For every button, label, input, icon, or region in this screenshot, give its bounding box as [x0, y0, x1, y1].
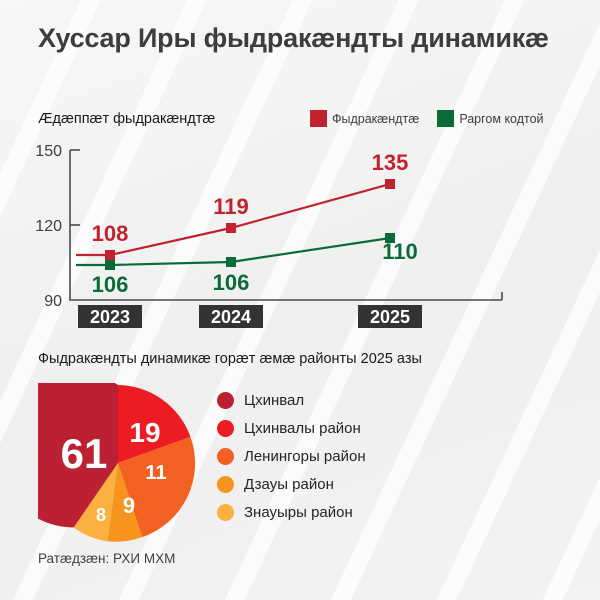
year-label-2023: 2023 [90, 307, 130, 327]
pie-legend-item-cxinvaly-rayon: Цхинвалы район [217, 418, 366, 439]
line-chart: 150 120 90 [0, 140, 600, 330]
pie-legend-label-znauyry-rayon: Знауыры район [244, 504, 353, 521]
year-label-2024: 2024 [211, 307, 251, 327]
pie-value-dzauy-rayon: 9 [123, 493, 135, 518]
pie-legend-item-znauyry-rayon: Знауыры район [217, 502, 366, 523]
value-solved-2025: 110 [382, 239, 418, 264]
value-crimes-2023: 108 [92, 221, 129, 246]
legend-label-crimes: Фыдракæндтæ [332, 112, 419, 126]
datapoint-crimes-2024 [226, 223, 236, 233]
datapoint-crimes-2023 [105, 250, 115, 260]
value-crimes-2024: 119 [213, 194, 249, 219]
pie-legend-dot-cxinvaly-rayon [217, 420, 234, 437]
pie-legend-item-cxinval: Цхинвал [217, 390, 366, 411]
pie-legend-dot-znauyry-rayon [217, 504, 234, 521]
pie-legend-dot-dzauy-rayon [217, 476, 234, 493]
legend-item-solved: Раргом кодтой [437, 110, 543, 127]
series-crimes [76, 179, 395, 260]
linechart-legend: Фыдракæндтæ Раргом кодтой [310, 110, 544, 127]
crimes-value-labels: 108 119 135 [92, 150, 409, 246]
pie-value-leningory-rayon: 11 [145, 462, 166, 484]
year-label-2025: 2025 [370, 307, 410, 327]
pie-legend-label-cxinval: Цхинвал [244, 392, 304, 409]
value-solved-2024: 106 [213, 270, 250, 295]
pie-value-cxinval: 61 [61, 430, 108, 477]
source-note: Ратæдзæн: РХИ МХМ [38, 551, 175, 566]
line-chart-svg: 150 120 90 [0, 140, 600, 330]
pie-legend-item-dzauy-rayon: Дзауы район [217, 474, 366, 495]
value-solved-2023: 106 [92, 272, 129, 297]
linechart-caption: Æдæппæт фыдракæндтæ [38, 111, 215, 127]
pie-caption: Фыдракæндты динамикæ горæт æмæ районты 2… [38, 351, 422, 367]
pie-legend-label-leningory-rayon: Ленингоры район [244, 448, 366, 465]
pie-legend-dot-cxinval [217, 392, 234, 409]
datapoint-crimes-2025 [385, 179, 395, 189]
legend-label-solved: Раргом кодтой [459, 112, 543, 126]
pie-legend-item-leningory-rayon: Ленингоры район [217, 446, 366, 467]
y-tick-120: 120 [35, 218, 62, 235]
value-crimes-2025: 135 [372, 150, 409, 175]
pie-legend-label-dzauy-rayon: Дзауы район [244, 476, 334, 493]
chart-axes [70, 150, 502, 300]
datapoint-solved-2024 [226, 257, 236, 267]
legend-swatch-green [437, 110, 454, 127]
page-title: Хуссар Иры фыдракæндты динамикæ [38, 22, 558, 55]
infographic-content: Хуссар Иры фыдракæндты динамикæ Æдæппæт … [0, 0, 600, 600]
pie-value-znauyry-rayon: 8 [96, 505, 106, 525]
legend-item-crimes: Фыдракæндтæ [310, 110, 419, 127]
infographic-root: Хуссар Иры фыдракæндты динамикæ Æдæппæт … [0, 0, 600, 600]
y-tick-90: 90 [44, 293, 62, 310]
pie-legend: Цхинвал Цхинвалы район Ленингоры район Д… [217, 390, 366, 523]
datapoint-solved-2023 [105, 260, 115, 270]
legend-swatch-red [310, 110, 327, 127]
pie-value-cxinvaly-rayon: 19 [129, 417, 160, 448]
pie-chart: 61 19 11 9 8 [38, 383, 198, 543]
y-tick-150: 150 [35, 143, 62, 160]
pie-legend-dot-leningory-rayon [217, 448, 234, 465]
pie-chart-svg: 61 19 11 9 8 [38, 383, 198, 543]
pie-legend-label-cxinvaly-rayon: Цхинвалы район [244, 420, 361, 437]
x-axis-year-badges: 2023 2024 2025 [78, 305, 422, 328]
y-axis-tick-labels: 150 120 90 [35, 143, 62, 310]
